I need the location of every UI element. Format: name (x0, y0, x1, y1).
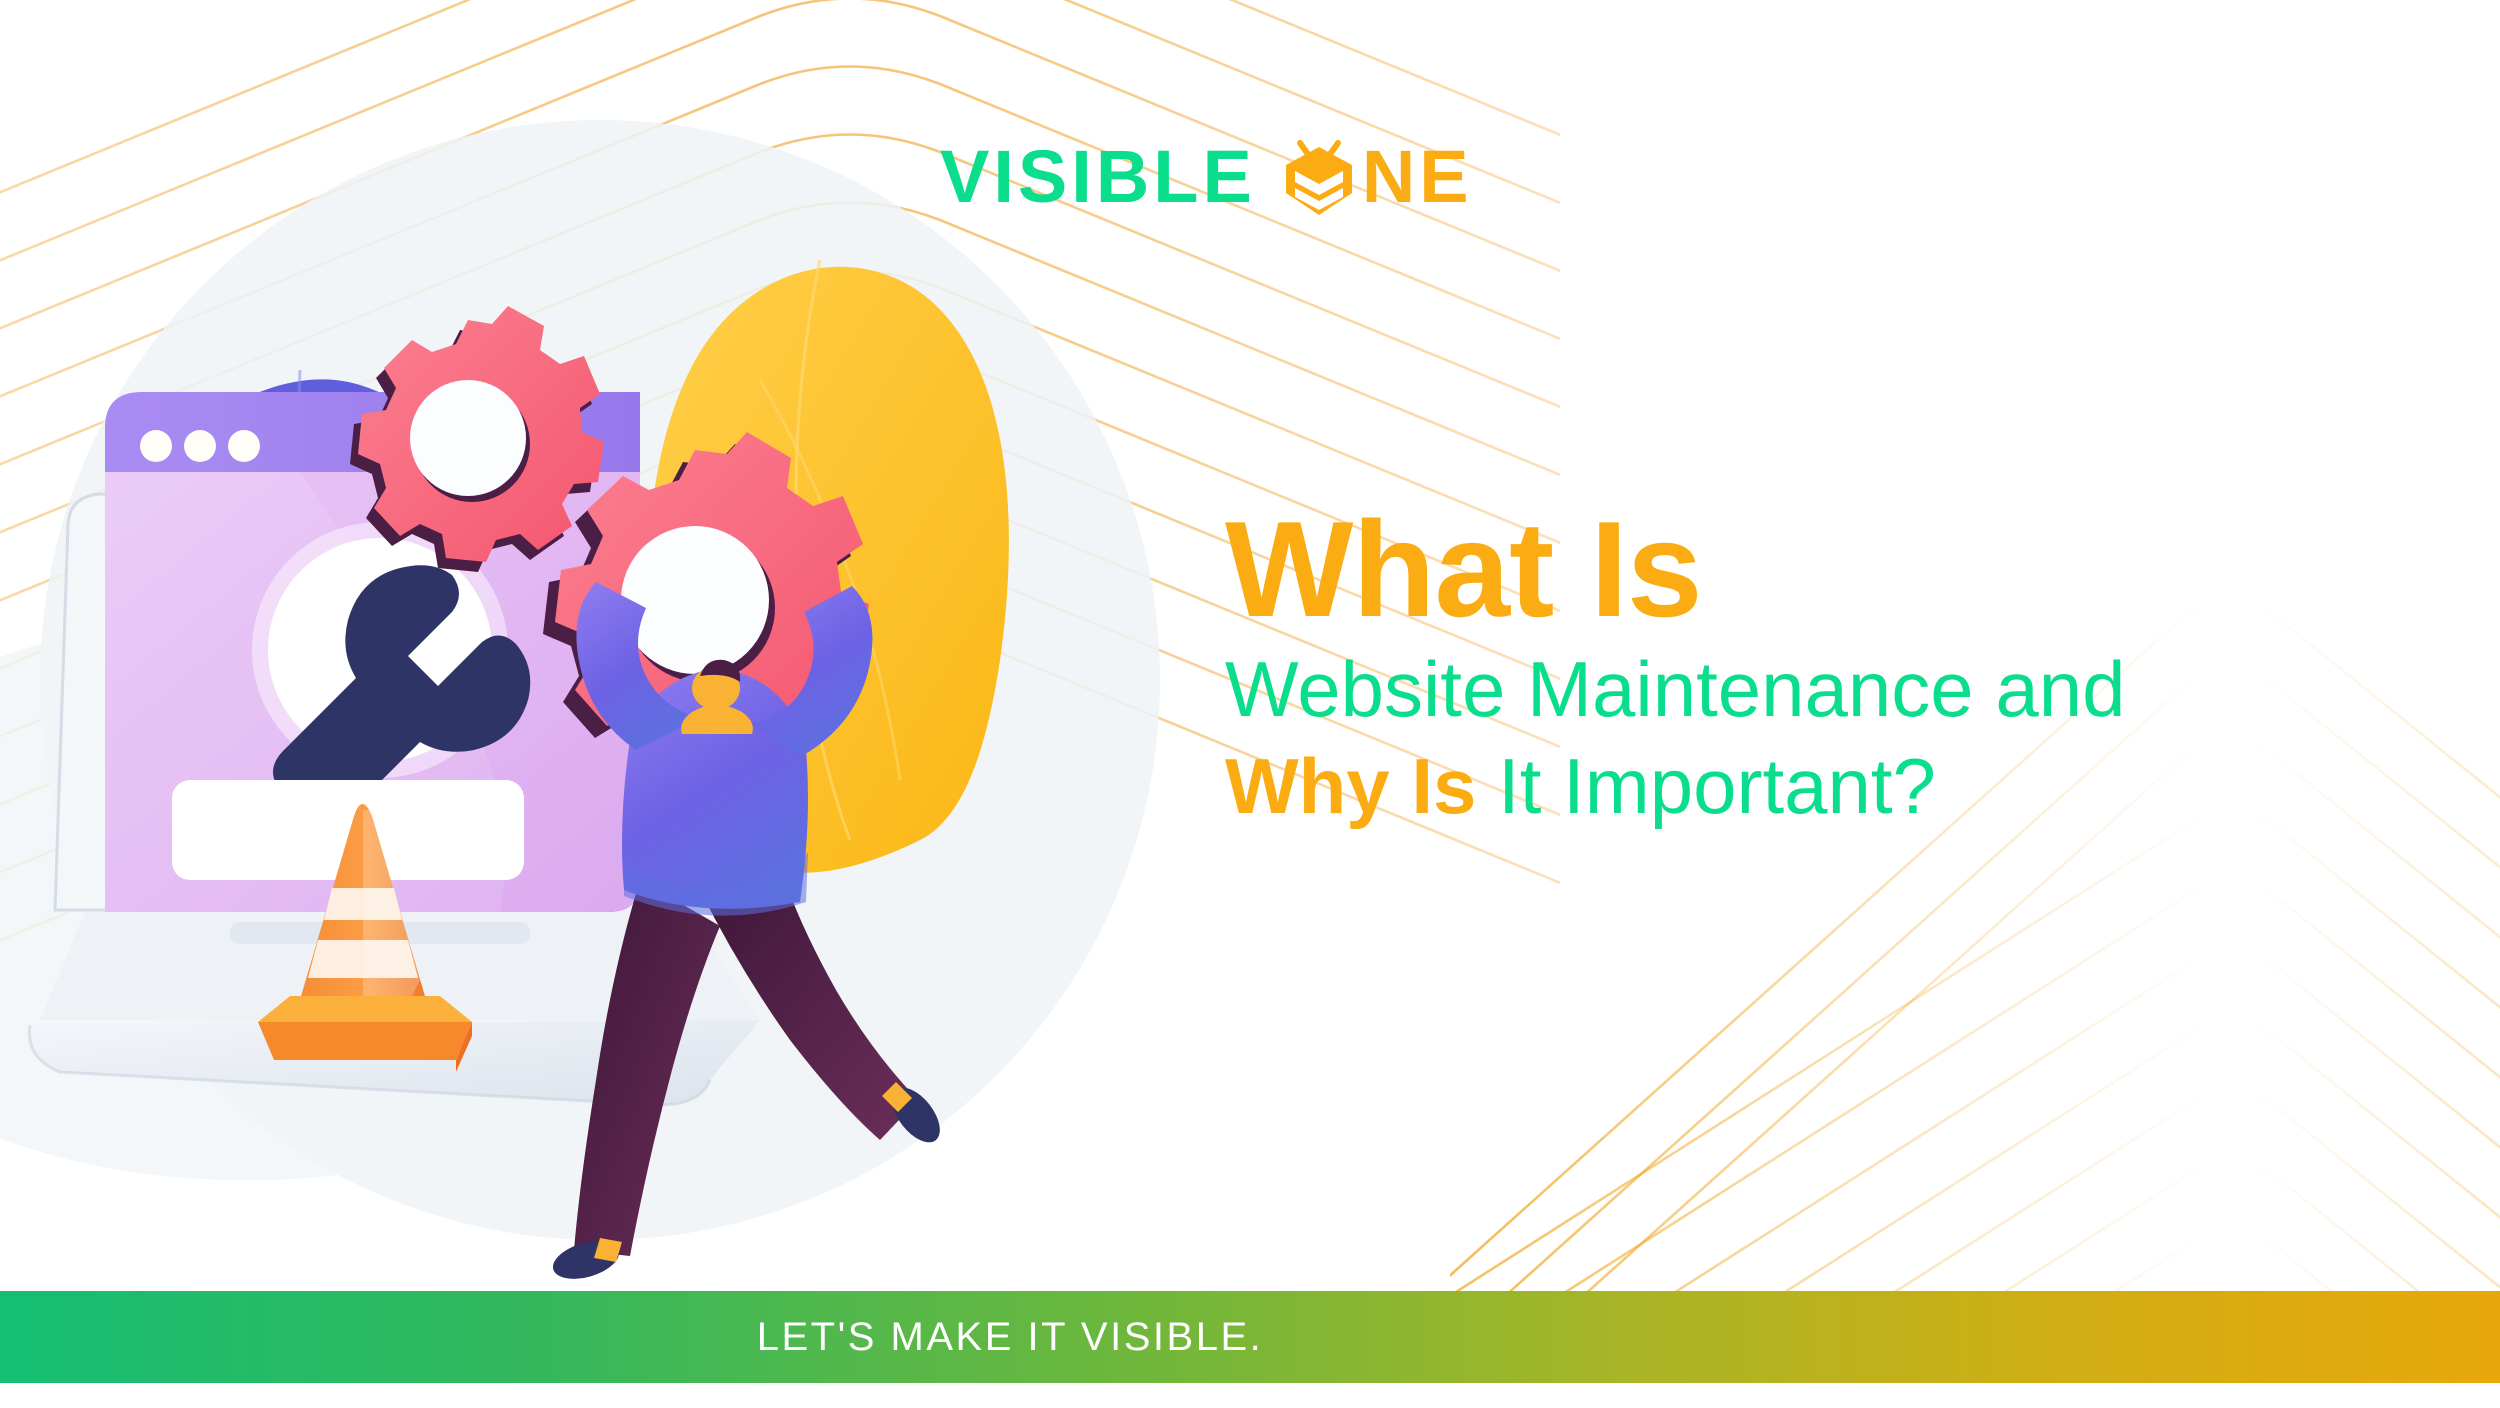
bee-hexagon-icon (1282, 135, 1356, 219)
browser-dot-maximize (228, 430, 260, 462)
browser-dot-minimize (184, 430, 216, 462)
footer-tagline-text: LET'S MAKE IT VISIBLE. (757, 1315, 1264, 1360)
website-maintenance-illustration (0, 120, 1180, 1280)
headline-line-3-rest: It Important? (1476, 742, 1936, 830)
browser-dot-close (140, 430, 172, 462)
headline-line-3-emphasis: Why Is (1225, 742, 1476, 830)
poster-canvas: VISIBLE NE What Is Website Maintenance a… (0, 0, 2500, 1408)
logo-text-one: NE (1362, 140, 1473, 214)
headline-line-2: Website Maintenance and (1225, 645, 2405, 735)
headline-line-1: What Is (1225, 500, 2405, 639)
headline-line-3: Why Is It Important? (1225, 740, 2405, 834)
logo-text-visible: VISIBLE (940, 140, 1256, 214)
brand-logo[interactable]: VISIBLE NE (940, 138, 1473, 216)
footer-tagline-bar: LET'S MAKE IT VISIBLE. (0, 1291, 2500, 1383)
page-title: What Is Website Maintenance and Why Is I… (1225, 500, 2405, 834)
